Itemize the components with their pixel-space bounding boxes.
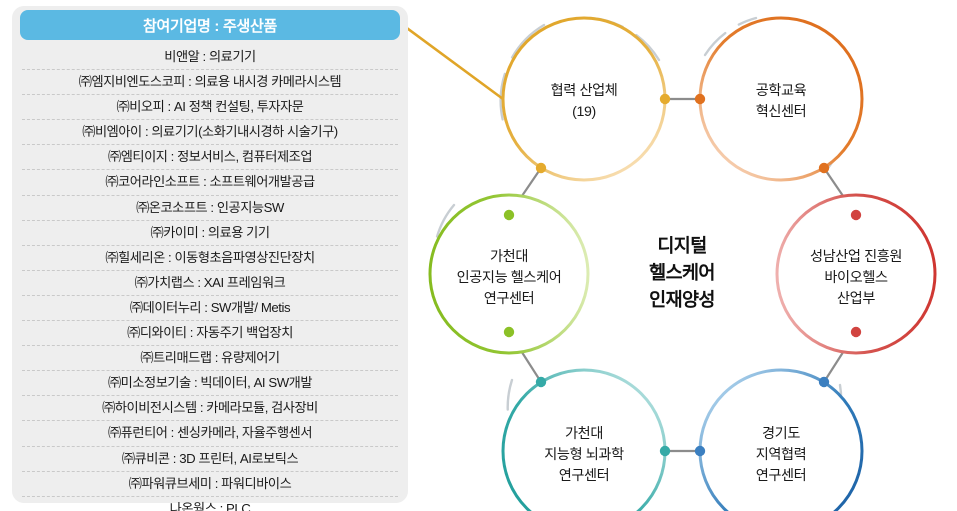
node-dot — [819, 163, 829, 173]
node-label-line: 산업부 — [837, 291, 875, 307]
node-dot — [536, 377, 546, 387]
company-list-item: ㈜트리매드랩 : 유량제어기 — [22, 346, 398, 371]
node-dot — [851, 210, 861, 220]
company-list: 비앤알 : 의료기기㈜엠지비엔도스코피 : 의료용 내시경 카메라시스템㈜비오피… — [22, 45, 398, 511]
node-label-line: (19) — [572, 104, 596, 120]
company-list-item: 비앤알 : 의료기기 — [22, 45, 398, 70]
node-label-line: 공학교육 — [756, 83, 807, 99]
node-label-line: 연구센터 — [484, 291, 535, 307]
center-title: 디지털 헬스케어 인재양성 — [649, 235, 715, 310]
node-label-line: 지역협력 — [756, 447, 807, 463]
node-label-line: 협력 산업체 — [551, 83, 618, 99]
node-dot — [536, 163, 546, 173]
company-list-item: ㈜비엠아이 : 의료기기(소화기내시경하 시술기구) — [22, 120, 398, 145]
leader-line — [408, 20, 503, 99]
node-dot — [660, 94, 670, 104]
infographic-page: 참여기업명 : 주생산품 비앤알 : 의료기기㈜엠지비엔도스코피 : 의료용 내… — [0, 0, 957, 511]
node-engineering-education-center[interactable]: 공학교육 혁신센터 — [695, 18, 862, 180]
node-label-line: 연구센터 — [559, 468, 610, 484]
node-label-line: 가천대 — [490, 249, 528, 265]
company-list-item: ㈜퓨런티어 : 센싱카메라, 자율주행센서 — [22, 421, 398, 446]
node-dot — [504, 210, 514, 220]
company-list-item: ㈜큐비콘 : 3D 프린터, AI로보틱스 — [22, 447, 398, 472]
company-list-item: ㈜엠지비엔도스코피 : 의료용 내시경 카메라시스템 — [22, 70, 398, 95]
node-dot — [695, 446, 705, 456]
company-list-item: ㈜하이비전시스템 : 카메라모듈, 검사장비 — [22, 396, 398, 421]
node-label-line: 혁신센터 — [756, 104, 807, 120]
node-dot — [660, 446, 670, 456]
node-gyeonggi-regional-center[interactable]: 경기도 지역협력 연구센터 — [695, 370, 862, 511]
node-dot — [504, 327, 514, 337]
center-title-line: 디지털 — [657, 235, 706, 256]
node-label-line: 바이오헬스 — [824, 270, 888, 286]
node-label-line: 경기도 — [762, 426, 800, 442]
node-seongnam-bio-health[interactable]: 성남산업 진흥원 바이오헬스 산업부 — [777, 195, 935, 353]
node-label-line: 성남산업 진흥원 — [810, 249, 902, 265]
center-title-line: 헬스케어 — [649, 262, 715, 283]
panel-header-title: 참여기업명 : 주생산품 — [20, 10, 400, 40]
node-dot — [695, 94, 705, 104]
company-list-item: ㈜코어라인소프트 : 소프트웨어개발공급 — [22, 170, 398, 195]
node-dot — [851, 327, 861, 337]
company-list-item: 나온웍스 : PLC — [22, 497, 398, 511]
node-label-line: 연구센터 — [756, 468, 807, 484]
company-list-item: ㈜디와이티 : 자동주기 백업장치 — [22, 321, 398, 346]
company-list-item: ㈜파워큐브세미 : 파워디바이스 — [22, 472, 398, 497]
company-list-item: ㈜가치랩스 : XAI 프레임워크 — [22, 271, 398, 296]
company-list-item: ㈜힐세리온 : 이동형초음파영상진단장치 — [22, 246, 398, 271]
node-gachon-brain-science-center[interactable]: 가천대 지능형 뇌과학 연구센터 — [503, 370, 670, 511]
company-list-item: ㈜엠티이지 : 정보서비스, 컴퓨터제조업 — [22, 145, 398, 170]
center-title-line: 인재양성 — [649, 289, 715, 310]
company-list-item: ㈜카이미 : 의료용 기기 — [22, 221, 398, 246]
company-list-panel: 참여기업명 : 주생산품 비앤알 : 의료기기㈜엠지비엔도스코피 : 의료용 내… — [12, 6, 408, 503]
node-label-line: 인공지능 헬스케어 — [457, 270, 562, 286]
node-dot — [819, 377, 829, 387]
node-gachon-ai-healthcare-center[interactable]: 가천대 인공지능 헬스케어 연구센터 — [430, 195, 588, 353]
circular-diagram: 협력 산업체 (19) 공학교육 혁신센터 성남산업 진흥원 바이오헬스 산업부 — [408, 0, 957, 511]
company-list-item: ㈜비오피 : AI 정책 컨설팅, 투자자문 — [22, 95, 398, 120]
node-label-line: 가천대 — [565, 426, 603, 442]
company-list-item: ㈜미소정보기술 : 빅데이터, AI SW개발 — [22, 371, 398, 396]
company-list-item: ㈜온코소프트 : 인공지능SW — [22, 196, 398, 221]
company-list-item: ㈜데이터누리 : SW개발/ Metis — [22, 296, 398, 321]
node-label-line: 지능형 뇌과학 — [544, 447, 624, 463]
